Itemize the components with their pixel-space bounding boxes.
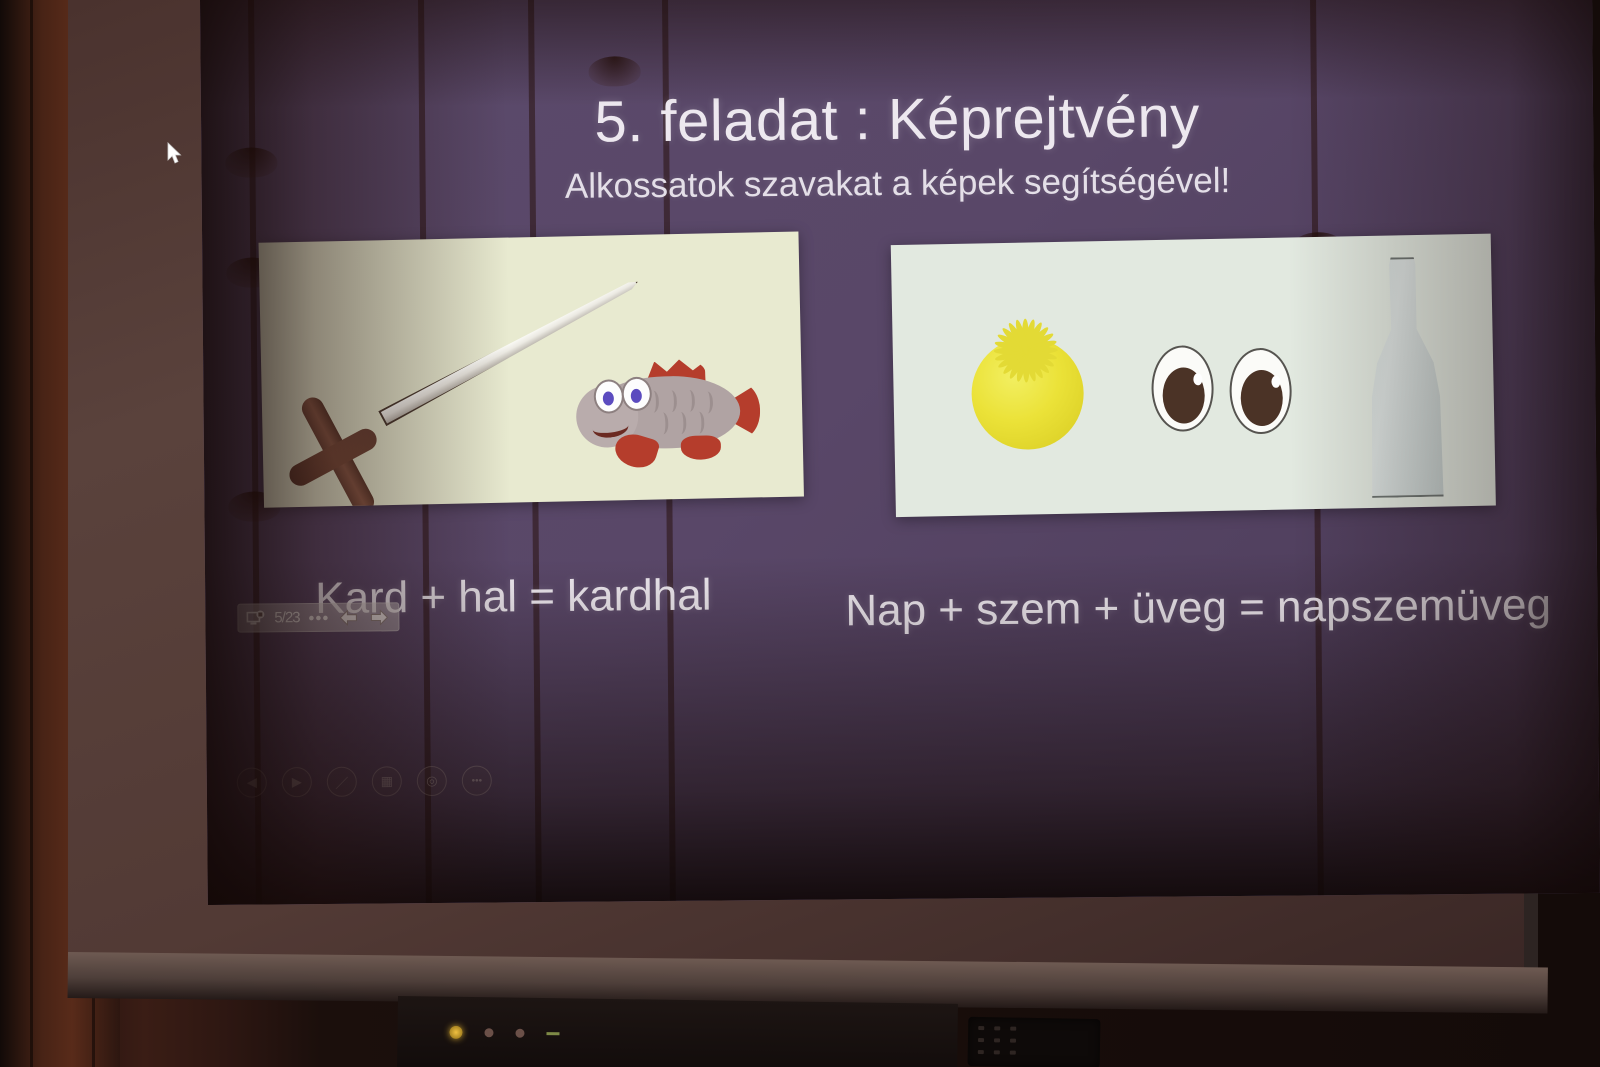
fish-icon bbox=[571, 352, 758, 471]
arrow-left-icon[interactable] bbox=[338, 609, 360, 625]
fish-scale bbox=[702, 391, 713, 413]
page-title: 5. feladat : Képrejtvény bbox=[201, 80, 1594, 159]
zoom-button[interactable]: ◎ bbox=[417, 766, 447, 796]
fish-scale bbox=[693, 412, 704, 434]
fish-scale bbox=[666, 390, 677, 412]
fish-pupil bbox=[603, 391, 614, 405]
caption-napszemuveg: Nap + szem + üveg = napszemüveg bbox=[845, 580, 1551, 636]
bottle-icon bbox=[1361, 257, 1448, 499]
power-led-icon bbox=[449, 1026, 462, 1039]
previous-slide-glyph: ◀ bbox=[247, 775, 257, 791]
fish-scale bbox=[675, 412, 686, 434]
fish-anal-fin bbox=[681, 435, 721, 460]
all-slides-glyph: ▦ bbox=[381, 773, 393, 789]
ellipsis-icon[interactable] bbox=[309, 613, 329, 621]
fish-scale bbox=[657, 412, 668, 434]
all-slides-button[interactable]: ▦ bbox=[372, 766, 402, 796]
zoom-glyph: ◎ bbox=[426, 773, 437, 789]
projected-slide-area: 5. feladat : Képrejtvény Alkossatok szav… bbox=[200, 0, 1600, 905]
arrow-right-icon[interactable] bbox=[369, 609, 391, 625]
picture-card-sword-fish bbox=[259, 231, 804, 507]
wood-seam bbox=[30, 0, 33, 1067]
more-options-button[interactable]: ••• bbox=[462, 765, 492, 795]
pen-tool-button[interactable]: ／ bbox=[327, 767, 357, 797]
fish-pupil bbox=[631, 389, 642, 403]
mouse-cursor bbox=[167, 142, 183, 166]
more-options-glyph: ••• bbox=[472, 775, 483, 786]
eyes-icon bbox=[1151, 343, 1313, 438]
presenter-mini-toolbar[interactable]: 5/23 bbox=[237, 602, 399, 632]
next-slide-glyph: ▶ bbox=[292, 774, 302, 790]
sword-icon bbox=[259, 231, 799, 242]
previous-slide-button[interactable]: ◀ bbox=[237, 767, 267, 797]
sun-icon bbox=[930, 296, 1124, 490]
picture-card-sun-eyes-bottle bbox=[891, 234, 1496, 517]
bottle-shape bbox=[1361, 257, 1448, 499]
eye-right-glint bbox=[1271, 376, 1280, 388]
projector-control-strip bbox=[397, 996, 958, 1067]
slide-content: 5. feladat : Képrejtvény Alkossatok szav… bbox=[200, 0, 1600, 905]
presenter-bottom-bar[interactable]: ◀ ▶ ／ ▦ ◎ ••• bbox=[237, 765, 492, 797]
eye-left-glint bbox=[1193, 373, 1202, 385]
interactive-whiteboard[interactable]: 5. feladat : Képrejtvény Alkossatok szav… bbox=[68, 0, 1538, 995]
pointer-screen-icon[interactable] bbox=[246, 610, 265, 626]
next-slide-button[interactable]: ▶ bbox=[282, 767, 312, 797]
slide-subtitle: Alkossatok szavakat a képek segítségével… bbox=[201, 158, 1593, 210]
fish-scale bbox=[684, 390, 695, 412]
status-led-icon bbox=[484, 1028, 493, 1037]
remote-control bbox=[968, 1017, 1101, 1067]
indicator-led-icon bbox=[546, 1032, 559, 1035]
status-led-icon bbox=[515, 1029, 524, 1038]
pen-tool-glyph: ／ bbox=[335, 772, 348, 791]
slide-counter: 5/23 bbox=[274, 609, 299, 626]
